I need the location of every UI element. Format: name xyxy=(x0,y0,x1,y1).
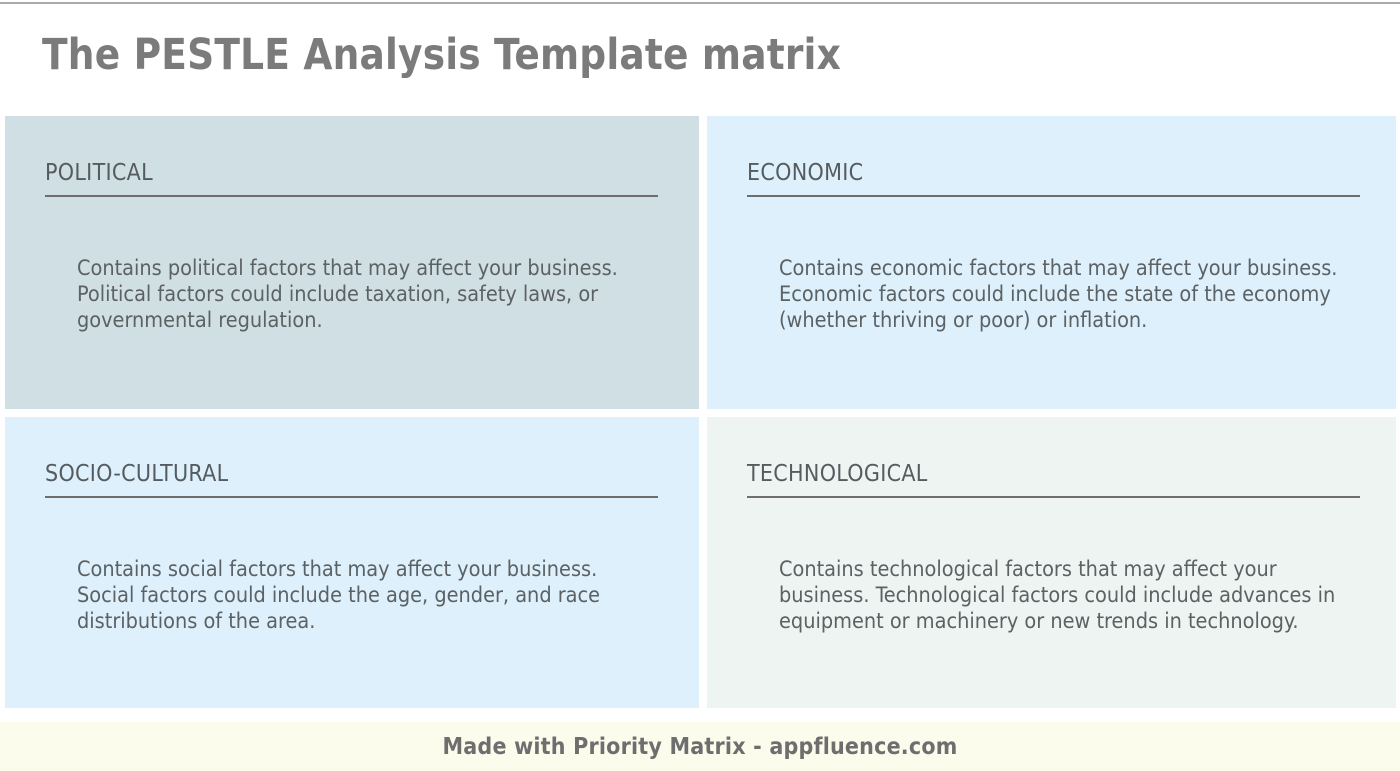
quadrant-technological-body: Contains technological factors that may … xyxy=(779,557,1339,635)
quadrant-technological[interactable]: TECHNOLOGICAL Contains technological fac… xyxy=(707,417,1396,708)
quadrant-political-title: POLITICAL xyxy=(45,160,661,186)
quadrant-political-header: POLITICAL xyxy=(45,160,661,197)
page-title: The PESTLE Analysis Template matrix xyxy=(42,30,841,80)
pestle-matrix: POLITICAL Contains political factors tha… xyxy=(5,116,1396,708)
quadrant-socio-cultural-body: Contains social factors that may affect … xyxy=(77,557,622,635)
quadrant-socio-cultural[interactable]: SOCIO-CULTURAL Contains social factors t… xyxy=(5,417,699,708)
quadrant-technological-rule xyxy=(747,496,1360,498)
quadrant-political-rule xyxy=(45,195,658,197)
quadrant-socio-cultural-title: SOCIO-CULTURAL xyxy=(45,461,661,487)
footer-spacer xyxy=(0,708,1400,722)
page-footer: Made with Priority Matrix - appfluence.c… xyxy=(0,722,1400,771)
quadrant-economic-body: Contains economic factors that may affec… xyxy=(779,256,1339,334)
quadrant-technological-title: TECHNOLOGICAL xyxy=(747,461,1358,487)
quadrant-economic-rule xyxy=(747,195,1360,197)
quadrant-economic[interactable]: ECONOMIC Contains economic factors that … xyxy=(707,116,1396,409)
footer-attribution: Made with Priority Matrix - appfluence.c… xyxy=(442,734,957,760)
quadrant-economic-title: ECONOMIC xyxy=(747,160,1358,186)
quadrant-political[interactable]: POLITICAL Contains political factors tha… xyxy=(5,116,699,409)
page-header: The PESTLE Analysis Template matrix xyxy=(0,4,1400,116)
quadrant-socio-cultural-rule xyxy=(45,496,658,498)
quadrant-socio-cultural-header: SOCIO-CULTURAL xyxy=(45,461,661,498)
quadrant-technological-header: TECHNOLOGICAL xyxy=(747,461,1358,498)
quadrant-economic-header: ECONOMIC xyxy=(747,160,1358,197)
quadrant-political-body: Contains political factors that may affe… xyxy=(77,256,622,334)
